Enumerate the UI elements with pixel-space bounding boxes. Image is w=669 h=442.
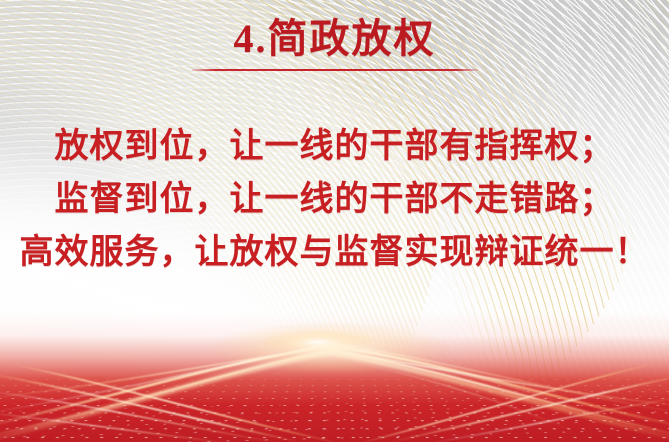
slide-canvas: 4.简政放权 放权到位，让一线的干部有指挥权； 监督到位，让一线的干部不走错路；…	[0, 0, 669, 442]
title-block: 4.简政放权	[0, 16, 669, 71]
body-line-2: 监督到位，让一线的干部不走错路；	[0, 173, 669, 226]
slide-content: 4.简政放权 放权到位，让一线的干部有指挥权； 监督到位，让一线的干部不走错路；…	[0, 0, 669, 442]
page-title: 4.简政放权	[234, 16, 436, 62]
body-line-1: 放权到位，让一线的干部有指挥权；	[0, 120, 669, 173]
title-underline-rule	[192, 69, 478, 71]
body-line-3: 高效服务，让放权与监督实现辩证统一！	[0, 226, 669, 279]
body-text-block: 放权到位，让一线的干部有指挥权； 监督到位，让一线的干部不走错路； 高效服务，让…	[0, 120, 669, 279]
